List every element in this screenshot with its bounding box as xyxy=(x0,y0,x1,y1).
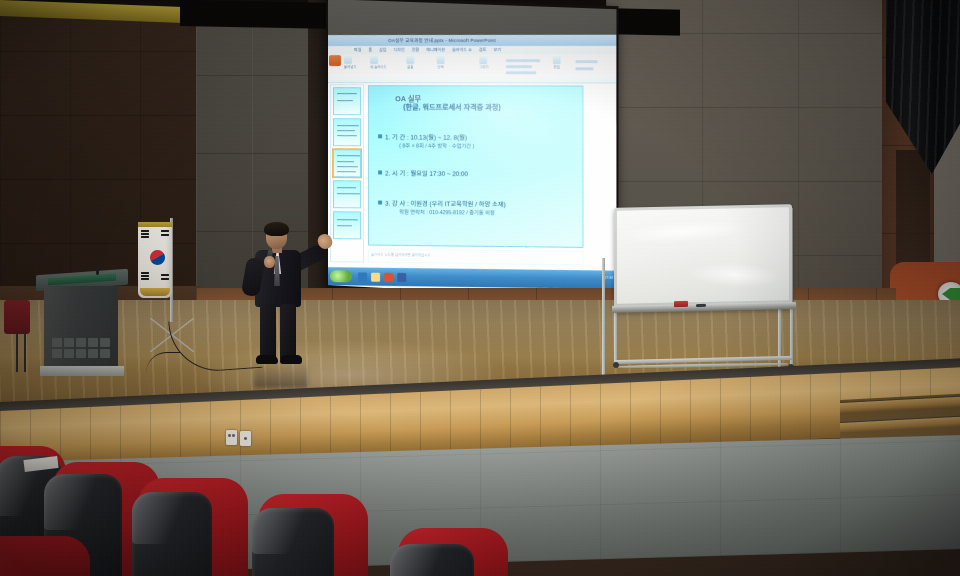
powerpoint-ribbon[interactable]: 붙여넣기 새 슬라이드 글꼴 xyxy=(328,54,616,83)
trigram-icon xyxy=(141,275,149,277)
slide-bullet-icon xyxy=(378,134,382,138)
ribbon-group-paste[interactable]: 붙여넣기 xyxy=(344,56,357,69)
slide-bullet-icon xyxy=(378,170,382,174)
presenter-hair xyxy=(264,222,289,236)
podium-base xyxy=(40,366,124,376)
trigram-icon xyxy=(141,272,149,274)
podium-control-panel[interactable] xyxy=(52,338,110,358)
ribbon-group-label: 편집 xyxy=(553,64,561,69)
whiteboard-caster xyxy=(613,362,619,368)
ribbon-tab-design[interactable]: 디자인 xyxy=(394,47,405,53)
whiteboard-frame xyxy=(614,204,792,312)
flag-gold-bottom-fringe xyxy=(140,288,170,296)
auditorium-scene: OA실무 교육과정 안내.pptx - Microsoft PowerPoint… xyxy=(0,0,960,576)
projection-screen-surface: OA실무 교육과정 안내.pptx - Microsoft PowerPoint… xyxy=(328,0,616,300)
podium-button[interactable] xyxy=(88,349,98,358)
stair-step xyxy=(840,396,960,413)
powerpoint-icon[interactable] xyxy=(384,272,393,281)
ribbon-group-label: 글꼴 xyxy=(406,64,414,69)
podium-button[interactable] xyxy=(52,338,62,347)
seat-highlight xyxy=(44,474,122,530)
podium xyxy=(44,272,120,376)
podium-button[interactable] xyxy=(64,349,74,358)
ribbon-group-font[interactable]: 글꼴 xyxy=(406,56,414,69)
seat-cushion xyxy=(0,536,90,576)
powerpoint-titlebar: OA실무 교육과정 안내.pptx - Microsoft PowerPoint xyxy=(328,35,616,46)
editing-icon[interactable] xyxy=(553,56,561,64)
slide-thumbnail[interactable] xyxy=(333,180,361,208)
whiteboard-leg xyxy=(602,258,605,384)
flag-gold-top-edge xyxy=(138,222,172,227)
seat-highlight xyxy=(132,492,212,544)
slide-item-3-sub: 학원 연락처 : 010-4295-8192 / 증기동 외장 xyxy=(399,209,495,217)
ribbon-tab-home[interactable]: 홈 xyxy=(368,47,372,53)
ribbon-tab-file[interactable]: 파일 xyxy=(354,47,361,53)
auditorium-seat[interactable] xyxy=(0,536,90,576)
windows-taskbar[interactable]: 17:42 xyxy=(328,267,616,289)
podium-button[interactable] xyxy=(76,349,86,358)
power-outlet[interactable] xyxy=(226,430,237,445)
ribbon-group-new-slide[interactable]: 새 슬라이드 xyxy=(370,56,387,69)
chair-legs xyxy=(10,332,32,372)
paragraph-icon[interactable] xyxy=(437,56,445,64)
ribbon-tab-view[interactable]: 보기 xyxy=(494,47,502,53)
slide-thumbnail[interactable] xyxy=(333,87,361,115)
podium-microphone-icon xyxy=(96,266,99,275)
ribbon-tab-review[interactable]: 검토 xyxy=(479,47,486,53)
podium-button[interactable] xyxy=(88,338,98,347)
podium-button[interactable] xyxy=(76,338,86,347)
auditorium-seat[interactable] xyxy=(398,528,508,576)
new-slide-icon[interactable] xyxy=(370,56,378,64)
ribbon-group-label: 붙여넣기 xyxy=(344,64,357,69)
taeguk-circle-icon xyxy=(150,250,165,265)
power-outlet[interactable] xyxy=(240,431,251,446)
exit-arrow-icon xyxy=(942,288,960,300)
ribbon-group-label: 그리기 xyxy=(479,64,489,69)
slide-item-3: 3. 강 사 : 이원경 (우리 IT교육학원 / 하양 소재) xyxy=(385,199,506,209)
slide-item-2: 2. 시 기 : 월요일 17:30 ~ 20:00 xyxy=(385,168,468,178)
ribbon-group-drawing[interactable]: 그리기 xyxy=(479,56,489,69)
stair-step xyxy=(840,416,960,433)
slide-item-1-sub: ( 8주 × 8회 / 4주 방학 · 수업기간 ) xyxy=(399,142,474,149)
word-icon[interactable] xyxy=(397,272,406,281)
whiteboard-glare xyxy=(673,255,785,294)
ribbon-group-editing[interactable]: 편집 xyxy=(553,56,561,69)
trigram-icon xyxy=(161,234,169,236)
whiteboard-marker[interactable] xyxy=(696,304,706,307)
presenter-floor-reflection xyxy=(254,362,308,388)
trigram-icon xyxy=(161,230,169,232)
office-button-icon[interactable] xyxy=(329,55,341,66)
projected-powerpoint-window[interactable]: OA실무 교육과정 안내.pptx - Microsoft PowerPoint… xyxy=(328,35,616,289)
trigram-icon xyxy=(141,236,149,238)
ribbon-tab-transition[interactable]: 전환 xyxy=(412,47,419,53)
slide-canvas[interactable]: OA 실무 (한글, 워드프로세서 자격증 과정) 1. 기 간 : 10.13… xyxy=(368,85,583,248)
projection-screen: OA실무 교육과정 안내.pptx - Microsoft PowerPoint… xyxy=(326,0,619,303)
trigram-icon xyxy=(141,233,149,235)
slide-notes-pane[interactable]: 슬라이드 노트를 입력하려면 클릭하십시오 xyxy=(368,249,583,266)
auditorium-seat[interactable] xyxy=(258,494,368,576)
auditorium-seat[interactable] xyxy=(138,478,248,576)
podium-button[interactable] xyxy=(64,338,74,347)
trigram-icon xyxy=(141,230,149,232)
presenter-leg xyxy=(280,304,296,360)
ribbon-group-paragraph[interactable]: 단락 xyxy=(437,56,445,69)
ribbon-tab-animation[interactable]: 애니메이션 xyxy=(426,47,445,53)
slide-title: OA 실무 xyxy=(395,94,578,104)
seat-highlight xyxy=(252,508,334,554)
trigram-icon xyxy=(161,278,169,280)
slide-subtitle: (한글, 워드프로세서 자격증 과정) xyxy=(403,103,583,113)
podium-button[interactable] xyxy=(52,349,62,358)
slide-thumbnail-selected[interactable] xyxy=(333,149,361,177)
ribbon-tab-slideshow[interactable]: 슬라이드 쇼 xyxy=(452,47,472,53)
font-icon[interactable] xyxy=(406,56,414,64)
slide-thumbnail[interactable] xyxy=(333,118,361,146)
ribbon-group-label: 단락 xyxy=(437,64,445,69)
ribbon-group-label: 새 슬라이드 xyxy=(370,64,387,69)
presenter-hand-holding-mic xyxy=(264,256,275,268)
seat-highlight xyxy=(390,544,474,576)
side-chair xyxy=(4,300,38,370)
chair-back xyxy=(4,300,30,334)
paste-icon[interactable] xyxy=(344,56,352,64)
presenter-leg xyxy=(260,304,276,360)
whiteboard-eraser[interactable] xyxy=(674,301,688,307)
trigram-icon xyxy=(161,274,169,276)
podium-button[interactable] xyxy=(100,338,110,347)
trigram-icon xyxy=(141,278,149,280)
explorer-icon[interactable] xyxy=(371,272,380,281)
slide-bullet-icon xyxy=(378,201,382,205)
right-doorway xyxy=(896,150,930,280)
podium-button[interactable] xyxy=(100,349,110,358)
slide-item-1: 1. 기 간 : 10.13(월) ~ 12. 8(월) xyxy=(385,132,467,141)
presenter xyxy=(238,224,348,370)
drawing-icon[interactable] xyxy=(479,56,487,64)
powerpoint-ribbon-tabs[interactable]: 파일 홈 삽입 디자인 전환 애니메이션 슬라이드 쇼 검토 보기 xyxy=(328,46,616,54)
ribbon-tab-insert[interactable]: 삽입 xyxy=(379,47,386,53)
browser-icon[interactable] xyxy=(358,272,367,281)
